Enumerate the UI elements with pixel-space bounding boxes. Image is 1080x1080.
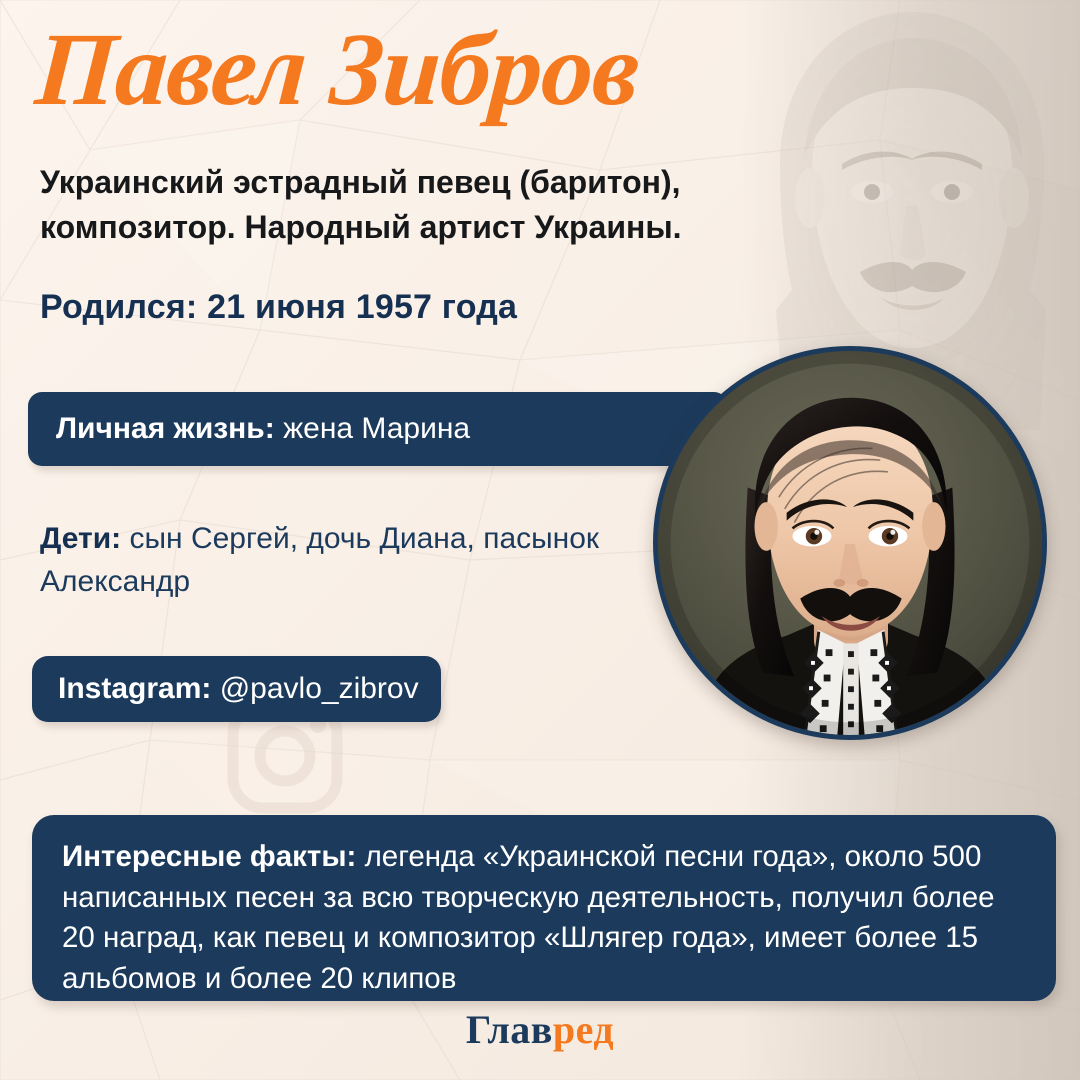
page-title: Павел Зибров bbox=[32, 14, 642, 126]
brand-logo[interactable]: Главред bbox=[0, 1006, 1080, 1053]
brand-logo-part-accent: ред bbox=[553, 1007, 614, 1052]
infographic-poster: Павел Зибров Украинский эстрадный певец … bbox=[0, 0, 1080, 1080]
brand-logo-part-dark: Глав bbox=[466, 1007, 553, 1052]
children-label: Дети: bbox=[40, 522, 121, 555]
instagram-text: Instagram: @pavlo_zibrov bbox=[58, 672, 419, 706]
personal-life-label: Личная жизнь: bbox=[56, 412, 275, 445]
personal-life-banner: Личная жизнь: жена Марина bbox=[28, 392, 728, 466]
interesting-facts-text: Интересные факты: легенда «Украинской пе… bbox=[62, 837, 1026, 1000]
born-line: Родился: 21 июня 1957 года bbox=[40, 288, 517, 327]
children-line: Дети: сын Сергей, дочь Диана, пасынок Ал… bbox=[40, 518, 640, 603]
children-value: сын Сергей, дочь Диана, пасынок Александ… bbox=[40, 522, 599, 598]
instagram-badge[interactable]: Instagram: @pavlo_zibrov bbox=[32, 656, 441, 722]
personal-life-text: Личная жизнь: жена Марина bbox=[56, 412, 470, 446]
avatar bbox=[653, 346, 1047, 740]
subtitle-description: Украинский эстрадный певец (баритон), ко… bbox=[40, 160, 760, 251]
interesting-facts-label: Интересные факты: bbox=[62, 840, 356, 873]
portrait-photo bbox=[658, 351, 1042, 735]
instagram-handle: @pavlo_zibrov bbox=[211, 672, 418, 705]
instagram-label: Instagram: bbox=[58, 672, 211, 705]
interesting-facts-box: Интересные факты: легенда «Украинской пе… bbox=[32, 815, 1056, 1001]
personal-life-value: жена Марина bbox=[275, 412, 470, 445]
